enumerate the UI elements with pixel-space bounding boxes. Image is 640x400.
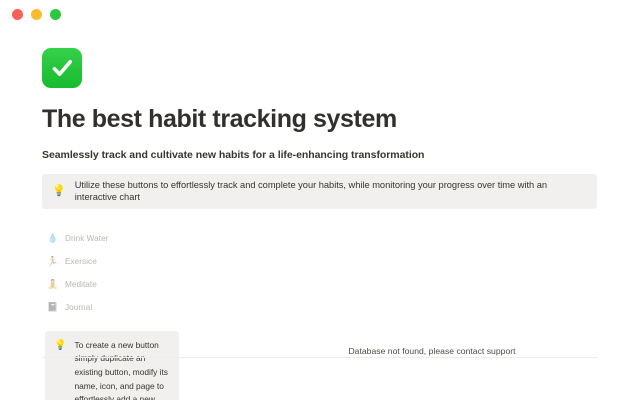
light-bulb-icon: 💡 (54, 340, 66, 352)
meditation-icon: 🧘 (47, 279, 58, 290)
info-callout-text: Utilize these buttons to effortlessly tr… (75, 179, 585, 204)
bottom-divider (42, 357, 598, 358)
lower-section: 💡 To create a new button simply duplicat… (42, 331, 597, 400)
habit-button-exersice[interactable]: 🏃 Exersice (42, 253, 598, 270)
droplet-icon: 💧 (47, 233, 58, 244)
habit-label: Meditate (65, 280, 97, 289)
info-callout: 💡 Utilize these buttons to effortlessly … (42, 174, 597, 209)
white-check-mark-icon (42, 48, 82, 88)
page-title: The best habit tracking system (42, 105, 598, 134)
window-controls (12, 9, 61, 20)
habit-button-meditate[interactable]: 🧘 Meditate (42, 276, 598, 293)
page-content: The best habit tracking system Seamlessl… (0, 28, 640, 400)
minimize-window-button[interactable] (31, 9, 42, 20)
database-error-message: Database not found, please contact suppo… (282, 346, 582, 356)
title-bar (0, 0, 640, 28)
close-window-button[interactable] (12, 9, 23, 20)
habit-button-journal[interactable]: 📓 Journal (42, 299, 598, 316)
habit-button-list: 💧 Drink Water 🏃 Exersice 🧘 Meditate 📓 Jo… (42, 230, 598, 316)
habit-label: Drink Water (65, 234, 108, 243)
notebook-icon: 📓 (47, 302, 58, 313)
habit-label: Exersice (65, 257, 97, 266)
running-icon: 🏃 (47, 256, 58, 267)
habit-label: Journal (65, 303, 92, 312)
app-window: The best habit tracking system Seamlessl… (0, 0, 640, 400)
page-subtitle: Seamlessly track and cultivate new habit… (42, 149, 598, 161)
tip-callout-text: To create a new button simply duplicate … (74, 339, 169, 400)
tip-callout: 💡 To create a new button simply duplicat… (45, 331, 179, 400)
maximize-window-button[interactable] (50, 9, 61, 20)
page-emoji-icon[interactable] (42, 48, 82, 88)
light-bulb-icon: 💡 (52, 185, 66, 198)
habit-button-drink-water[interactable]: 💧 Drink Water (42, 230, 598, 247)
